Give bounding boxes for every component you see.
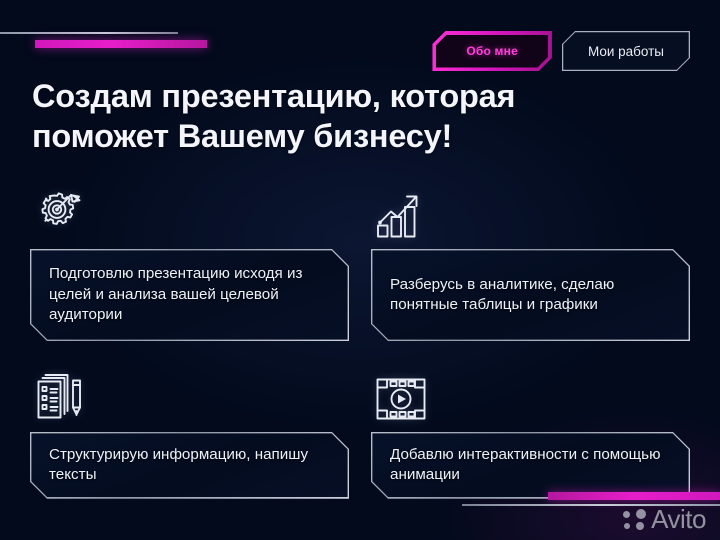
document-pencil-icon: [30, 365, 349, 423]
feature-item-1: Подготовлю презентацию исходя из целей и…: [30, 182, 349, 341]
feature-card-2: Разберусь в аналитике, сделаю понятные т…: [371, 249, 690, 341]
feature-card-3-text: Структурирую информацию, напишу тексты: [30, 432, 349, 499]
feature-card-1-text: Подготовлю презентацию исходя из целей и…: [30, 251, 349, 338]
feature-card-4-text: Добавлю интерактивности с помощью анимац…: [371, 432, 690, 499]
nav-tab-about-me[interactable]: Обо мне: [432, 31, 552, 71]
nav-tab-about-me-label: Обо мне: [466, 44, 518, 58]
film-play-icon: [371, 365, 690, 423]
decorative-bar-top-magenta: [35, 40, 207, 48]
feature-card-2-text: Разберусь в аналитике, сделаю понятные т…: [371, 262, 690, 329]
feature-item-3: Структурирую информацию, напишу тексты: [30, 365, 349, 499]
feature-item-2: Разберусь в аналитике, сделаю понятные т…: [371, 182, 690, 341]
decorative-line-top-thin: [0, 32, 178, 34]
feature-card-1: Подготовлю презентацию исходя из целей и…: [30, 249, 349, 341]
nav-tab-my-works[interactable]: Мои работы: [562, 31, 690, 71]
page-title: Создам презентацию, которая поможет Ваше…: [32, 77, 672, 156]
nav-bar: Обо мне Мои работы: [432, 31, 690, 71]
feature-grid: Подготовлю презентацию исходя из целей и…: [30, 182, 690, 499]
avito-watermark-label: Avito: [651, 506, 706, 532]
feature-item-4: Добавлю интерактивности с помощью анимац…: [371, 365, 690, 499]
growth-bar-chart-icon: [371, 182, 690, 240]
feature-card-3: Структурирую информацию, напишу тексты: [30, 432, 349, 499]
feature-card-4: Добавлю интерактивности с помощью анимац…: [371, 432, 690, 499]
gear-target-icon: [30, 182, 349, 240]
page-title-line-1: Создам презентацию, которая: [32, 77, 672, 117]
avito-watermark: Avito: [623, 506, 706, 532]
page-title-line-2: поможет Вашему бизнесу!: [32, 117, 672, 157]
nav-tab-my-works-label: Мои работы: [588, 44, 664, 59]
avito-logo-icon: [623, 509, 646, 530]
